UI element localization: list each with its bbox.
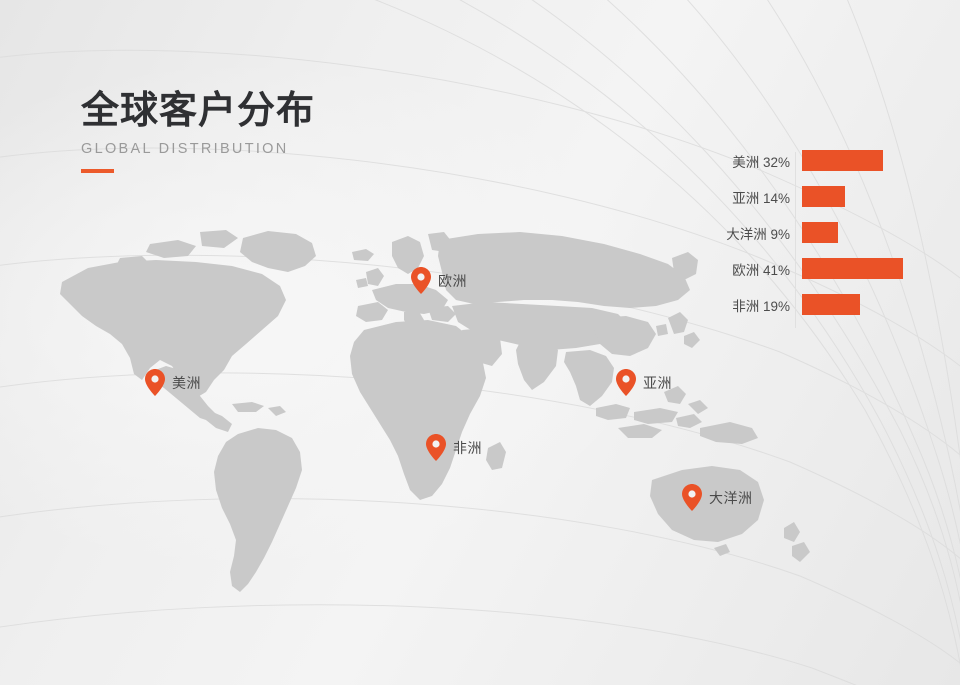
- page-title: 全球客户分布: [81, 92, 315, 132]
- map-pin-americas[interactable]: 美洲: [145, 369, 201, 396]
- location-pin-icon: [426, 434, 446, 461]
- distribution-bar-chart: 美洲 32% 亚洲 14% 大洋洲 9% 欧洲 41% 非洲 19%: [700, 150, 940, 330]
- chart-bar-track: [802, 222, 838, 243]
- map-pin-label: 美洲: [172, 373, 201, 393]
- chart-bar-fill: [802, 222, 838, 243]
- chart-row-asia[interactable]: 亚洲 14%: [700, 186, 940, 207]
- chart-bar-track: [802, 294, 860, 315]
- title-block: 全球客户分布 GLOBAL DISTRIBUTION: [81, 92, 315, 173]
- chart-bar-track: [802, 258, 903, 279]
- accent-underline: [81, 169, 114, 173]
- location-pin-icon: [616, 369, 636, 396]
- chart-row-europe[interactable]: 欧洲 41%: [700, 258, 940, 279]
- location-pin-icon: [682, 484, 702, 511]
- map-pin-label: 大洋洲: [709, 488, 753, 508]
- chart-bar-track: [802, 150, 883, 171]
- map-pin-africa[interactable]: 非洲: [426, 434, 482, 461]
- chart-row-oceania[interactable]: 大洋洲 9%: [700, 222, 940, 243]
- chart-row-label: 大洋洲 9%: [700, 223, 790, 243]
- location-pin-icon: [145, 369, 165, 396]
- map-pin-label: 欧洲: [438, 271, 467, 291]
- page-subtitle: GLOBAL DISTRIBUTION: [81, 141, 315, 157]
- map-pin-label: 亚洲: [643, 373, 672, 393]
- slide-canvas: 全球客户分布 GLOBAL DISTRIBUTION 美洲 欧洲 亚洲 非洲 大…: [0, 0, 960, 685]
- chart-bar-fill: [802, 294, 860, 315]
- chart-row-label: 美洲 32%: [700, 151, 790, 171]
- map-pin-label: 非洲: [453, 438, 482, 458]
- chart-row-label: 亚洲 14%: [700, 187, 790, 207]
- chart-bar-fill: [802, 258, 903, 279]
- chart-bar-track: [802, 186, 845, 207]
- chart-row-africa[interactable]: 非洲 19%: [700, 294, 940, 315]
- map-pin-europe[interactable]: 欧洲: [411, 267, 467, 294]
- chart-row-americas[interactable]: 美洲 32%: [700, 150, 940, 171]
- chart-row-label: 非洲 19%: [700, 295, 790, 315]
- location-pin-icon: [411, 267, 431, 294]
- map-pin-asia[interactable]: 亚洲: [616, 369, 672, 396]
- chart-bar-fill: [802, 150, 883, 171]
- chart-row-label: 欧洲 41%: [700, 259, 790, 279]
- map-pin-oceania[interactable]: 大洋洲: [682, 484, 753, 511]
- chart-bar-fill: [802, 186, 845, 207]
